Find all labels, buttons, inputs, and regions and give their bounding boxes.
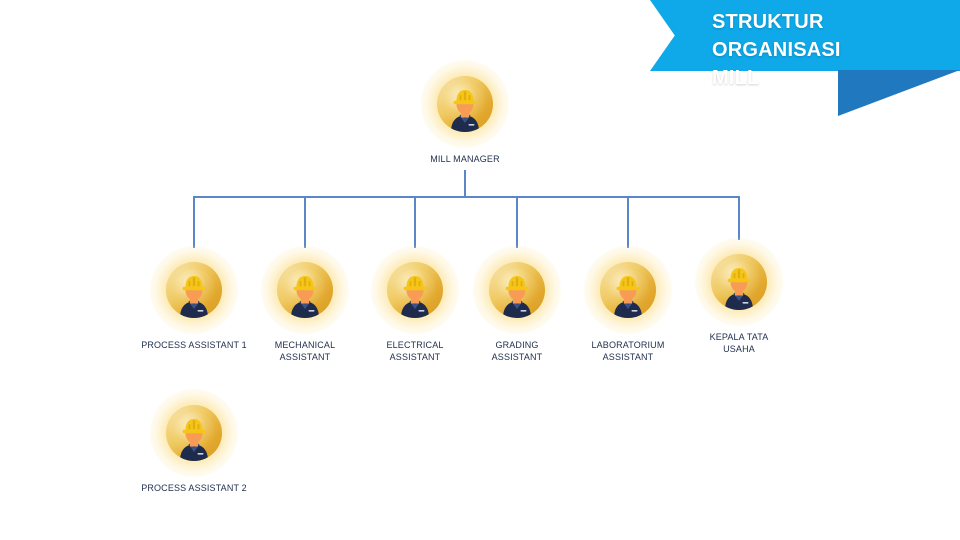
- connector-drop-1: [193, 196, 195, 248]
- worker-avatar-icon: [600, 262, 656, 318]
- page-title-line-1: STRUKTUR ORGANISASI: [712, 8, 952, 64]
- worker-avatar-icon: [277, 262, 333, 318]
- worker-avatar-icon: [489, 262, 545, 318]
- connector-drop-3: [414, 196, 416, 248]
- org-chart-canvas: STRUKTUR ORGANISASI MILL: [0, 0, 960, 540]
- avatar: [473, 246, 561, 334]
- worker-avatar-icon: [166, 262, 222, 318]
- title-banner: STRUKTUR ORGANISASI MILL: [650, 0, 960, 120]
- page-title: STRUKTUR ORGANISASI MILL: [712, 8, 952, 92]
- avatar-disc: [166, 405, 222, 461]
- worker-avatar-icon: [387, 262, 443, 318]
- org-node-mill-manager[interactable]: MILL MANAGER: [395, 60, 535, 165]
- avatar-disc: [489, 262, 545, 318]
- worker-avatar-icon: [166, 405, 222, 461]
- connector-drop-6: [738, 196, 740, 240]
- connector-horizontal-bus: [193, 196, 740, 198]
- avatar-disc: [437, 76, 493, 132]
- avatar-disc: [277, 262, 333, 318]
- avatar: [261, 246, 349, 334]
- avatar: [150, 246, 238, 334]
- connector-drop-2: [304, 196, 306, 248]
- org-node-kepala-tata-usaha[interactable]: KEPALA TATA USAHA: [669, 238, 809, 355]
- avatar: [371, 246, 459, 334]
- avatar-disc: [600, 262, 656, 318]
- org-node-label: KEPALA TATA USAHA: [669, 331, 809, 355]
- connector-drop-4: [516, 196, 518, 248]
- org-node-label: PROCESS ASSISTANT 2: [124, 482, 264, 494]
- avatar-disc: [166, 262, 222, 318]
- avatar: [695, 238, 783, 326]
- org-node-label: MILL MANAGER: [395, 153, 535, 165]
- connector-root-stem: [464, 170, 466, 197]
- worker-avatar-icon: [437, 76, 493, 132]
- avatar-disc: [711, 254, 767, 310]
- worker-avatar-icon: [711, 254, 767, 310]
- avatar: [584, 246, 672, 334]
- connector-drop-5: [627, 196, 629, 248]
- avatar: [421, 60, 509, 148]
- avatar: [150, 389, 238, 477]
- avatar-disc: [387, 262, 443, 318]
- page-title-line-2: MILL: [712, 64, 952, 92]
- org-node-process-assistant-2[interactable]: PROCESS ASSISTANT 2: [124, 389, 264, 494]
